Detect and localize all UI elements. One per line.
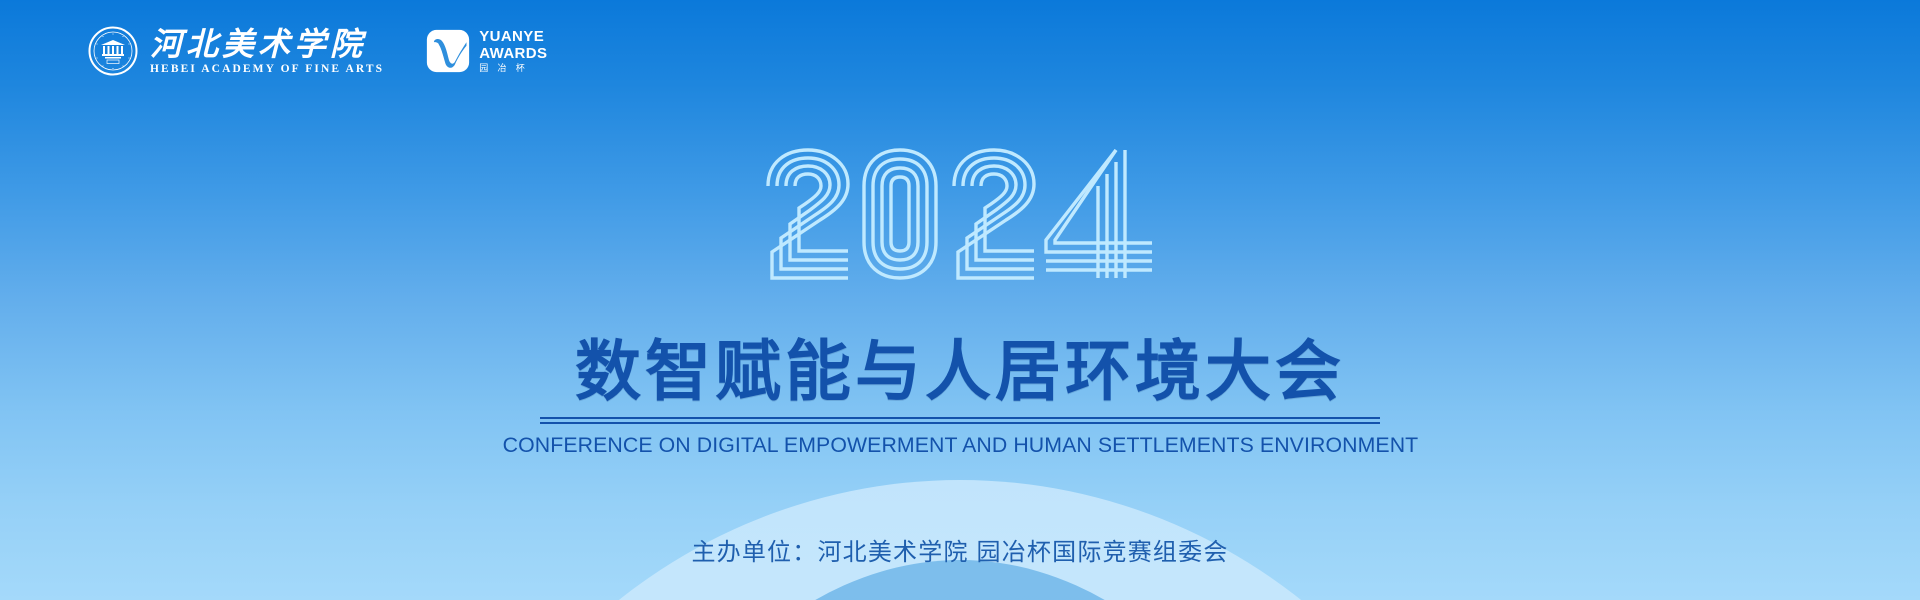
title-divider-line-2 <box>540 422 1380 424</box>
conference-banner: 河北美术学院 HEBEI ACADEMY OF FINE ARTS YUANYE… <box>0 0 1920 600</box>
title-divider-line-1 <box>540 417 1380 419</box>
logo-strip: 河北美术学院 HEBEI ACADEMY OF FINE ARTS YUANYE… <box>88 26 547 76</box>
year-digit-0 <box>864 150 936 278</box>
page-title-cn: 数智赋能与人居环境大会 <box>575 334 1345 408</box>
yuanye-swoosh-icon <box>426 29 470 73</box>
year-2024-graphic <box>760 140 1160 290</box>
year-digit-2b <box>954 150 1034 278</box>
yuanye-awards-text: YUANYE AWARDS 园 冶 杯 <box>479 29 547 74</box>
logo-hebei-academy[interactable]: 河北美术学院 HEBEI ACADEMY OF FINE ARTS <box>88 26 384 76</box>
yuanye-line1: YUANYE <box>479 29 547 45</box>
hebei-academy-text: 河北美术学院 HEBEI ACADEMY OF FINE ARTS <box>150 27 384 76</box>
yuanye-line3-cn: 园 冶 杯 <box>479 63 547 74</box>
hebei-academy-name-cn: 河北美术学院 <box>150 27 384 61</box>
year-graphic-wrapper <box>0 140 1920 290</box>
academy-seal-icon <box>88 26 138 76</box>
headline-block: 数智赋能与人居环境大会 CONFERENCE ON DIGITAL EMPOWE… <box>0 334 1920 458</box>
yuanye-line2: AWARDS <box>479 46 547 62</box>
page-title-en: CONFERENCE ON DIGITAL EMPOWERMENT AND HU… <box>502 433 1418 458</box>
title-divider <box>540 417 1380 424</box>
background-arcs <box>0 0 1920 600</box>
hebei-academy-name-en: HEBEI ACADEMY OF FINE ARTS <box>150 63 384 76</box>
organizer-line: 主办单位：河北美术学院 园冶杯国际竞赛组委会 <box>0 538 1920 568</box>
year-digit-2a <box>768 150 848 278</box>
year-digit-4 <box>1046 150 1152 278</box>
logo-yuanye-awards[interactable]: YUANYE AWARDS 园 冶 杯 <box>426 29 547 74</box>
